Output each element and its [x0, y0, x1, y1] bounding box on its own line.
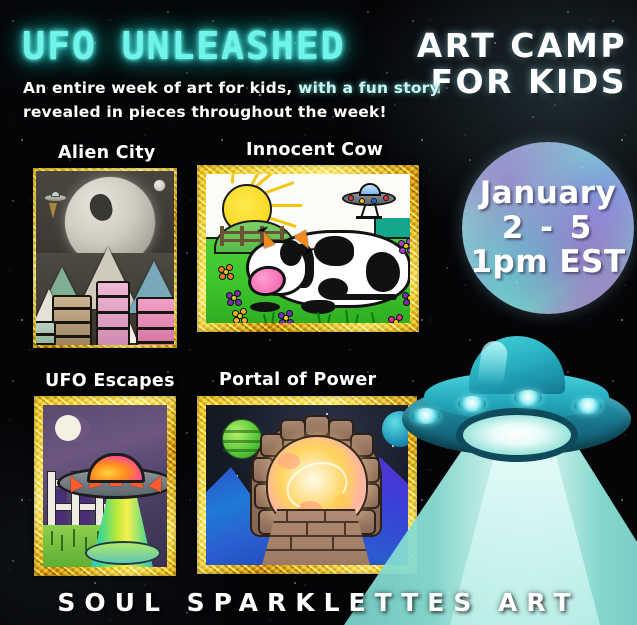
date-badge[interactable]: January 2 - 5 1pm EST: [462, 142, 634, 314]
cow-flower: [398, 238, 410, 254]
title-line-for-kids: FOR KIDS: [417, 64, 627, 100]
subtitle-part-2: with a fun story: [292, 79, 439, 97]
artwork-frame-ufo-escapes[interactable]: [34, 396, 176, 576]
portal-stone: [304, 415, 330, 437]
cow-flower: [388, 314, 404, 323]
brand-footer: SOUL SPARKLETTES ART: [0, 588, 637, 617]
alien-city-small-moon: [153, 179, 166, 192]
artwork-frame-alien-city[interactable]: [33, 168, 177, 348]
alien-city-ufo-beam: [49, 203, 57, 219]
cow-leg: [250, 302, 280, 312]
artwork-title-alien-city: Alien City: [58, 143, 156, 163]
artwork-title-portal-of-power: Portal of Power: [219, 370, 377, 390]
ufo-light: [412, 408, 440, 424]
artwork-frame-portal-of-power[interactable]: [197, 396, 417, 574]
portal-blob: [278, 453, 300, 469]
ufo-escapes-beam-pool: [85, 541, 161, 565]
alien-city-tower-2: [96, 281, 130, 345]
artwork-image-portal-of-power: [206, 405, 408, 565]
artwork-frame-innocent-cow[interactable]: [197, 165, 419, 332]
alien-city-tower-1: [52, 295, 92, 345]
ufo-light: [514, 390, 542, 406]
ufo-escapes-crescent-moon-icon: [55, 415, 81, 441]
cow-flower: [218, 264, 234, 280]
portal-brick-path: [262, 509, 370, 565]
cow-flower: [226, 290, 242, 306]
alien-city-tower-3: [136, 297, 174, 345]
artwork-image-alien-city: [36, 171, 174, 345]
alien-city-tower-4: [36, 321, 56, 345]
cow-ufo-icon: [342, 182, 396, 212]
ufo-graphic: [396, 330, 637, 625]
cow-spot: [366, 252, 400, 292]
title-line-art-camp: ART CAMP: [417, 28, 627, 64]
cow-spot: [314, 236, 354, 266]
subtitle: An entire week of art for kids, with a f…: [23, 76, 440, 124]
cow-flower: [402, 290, 410, 306]
portal-blob: [326, 447, 346, 461]
header: UFO UNLEASHED ART CAMP FOR KIDS An entir…: [0, 0, 637, 140]
artwork-title-innocent-cow: Innocent Cow: [246, 140, 383, 160]
ufo-light: [458, 396, 486, 412]
ufo-escapes-saucer: [57, 453, 167, 499]
cow-flower: [278, 310, 294, 323]
cow-tail: [331, 294, 397, 300]
ufo-emitter-ring: [456, 408, 578, 462]
page-title-neon: UFO UNLEASHED: [22, 24, 345, 68]
date-month: January: [480, 177, 617, 210]
artwork-title-ufo-escapes: UFO Escapes: [45, 371, 175, 391]
page-title-white: ART CAMP FOR KIDS: [417, 28, 627, 99]
date-range: 2 - 5: [502, 212, 595, 245]
cow-flower: [232, 308, 248, 323]
subtitle-part-1: An entire week of art for kids,: [23, 79, 292, 97]
date-time: 1pm EST: [470, 246, 625, 279]
artwork-image-ufo-escapes: [43, 405, 167, 567]
poster-canvas: UFO UNLEASHED ART CAMP FOR KIDS An entir…: [0, 0, 637, 625]
ufo-light: [574, 398, 602, 414]
subtitle-line-2: revealed in pieces throughout the week!: [23, 103, 387, 121]
artwork-image-innocent-cow: [206, 174, 410, 323]
